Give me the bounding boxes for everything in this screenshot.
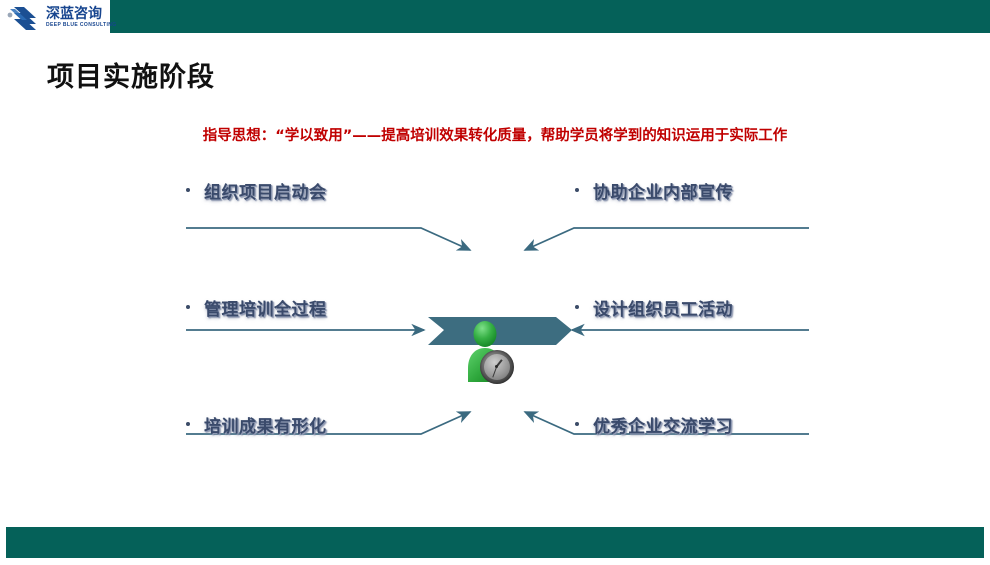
footer-bar xyxy=(6,527,984,558)
bullet-label: 组织项目启动会 xyxy=(204,178,327,203)
bullet-bottom-right[interactable]: 优秀企业交流学习 xyxy=(575,412,733,437)
slide-canvas: 深蓝咨询 DEEP BLUE CONSULTING 项目实施阶段 指导思想：“学… xyxy=(0,0,990,565)
bullet-dot-icon xyxy=(186,422,190,426)
header-bar xyxy=(110,0,990,33)
brand-logo-text: 深蓝咨询 DEEP BLUE CONSULTING xyxy=(46,7,117,28)
brand-name-en: DEEP BLUE CONSULTING xyxy=(46,23,117,28)
bullet-dot-icon xyxy=(186,188,190,192)
bullet-label: 设计组织员工活动 xyxy=(593,295,733,320)
bullet-dot-icon xyxy=(575,305,579,309)
bullet-label: 培训成果有形化 xyxy=(204,412,327,437)
brand-name-cn: 深蓝咨询 xyxy=(46,7,117,21)
bullet-label: 协助企业内部宣传 xyxy=(593,178,733,203)
bullet-label: 管理培训全过程 xyxy=(204,295,327,320)
page-title: 项目实施阶段 xyxy=(47,55,215,94)
chevron-stack-logo-icon xyxy=(6,4,42,32)
center-figure xyxy=(455,320,515,390)
bullet-top-right[interactable]: 协助企业内部宣传 xyxy=(575,178,733,203)
connector-lines xyxy=(0,150,990,480)
bullet-bottom-left[interactable]: 培训成果有形化 xyxy=(186,412,327,437)
bullet-dot-icon xyxy=(575,422,579,426)
clock-icon xyxy=(480,350,514,384)
bullet-dot-icon xyxy=(186,305,190,309)
brand-logo: 深蓝咨询 DEEP BLUE CONSULTING xyxy=(6,2,110,33)
guiding-principle-text: 指导思想：“学以致用”——提高培训效果转化质量，帮助学员将学到的知识运用于实际工… xyxy=(0,124,990,145)
bullet-top-left[interactable]: 组织项目启动会 xyxy=(186,178,327,203)
bullet-mid-left[interactable]: 管理培训全过程 xyxy=(186,295,327,320)
bullet-label: 优秀企业交流学习 xyxy=(593,412,733,437)
bullet-mid-right[interactable]: 设计组织员工活动 xyxy=(575,295,733,320)
process-diagram: 组织项目启动会 协助企业内部宣传 管理培训全过程 设计组织员工活动 培训成果有形… xyxy=(0,150,990,480)
bullet-dot-icon xyxy=(575,188,579,192)
